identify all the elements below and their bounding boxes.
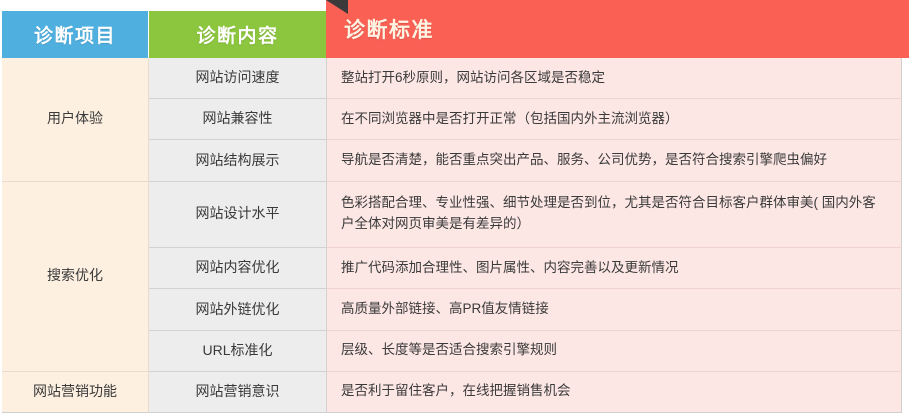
- header-cell-project: 诊断项目: [2, 11, 148, 58]
- category-cell: 网站营销功能: [2, 371, 149, 412]
- category-cell: 用户体验: [2, 58, 149, 181]
- item-cell: 网站结构展示: [149, 140, 327, 181]
- table-body: 用户体验网站访问速度整站打开6秒原则，网站访问各区域是否稳定网站兼容性在不同浏览…: [2, 58, 902, 413]
- table-row: 网站营销功能网站营销意识是否利于留住客户，在线把握销售机会: [2, 371, 902, 412]
- diagnosis-table: 用户体验网站访问速度整站打开6秒原则，网站访问各区域是否稳定网站兼容性在不同浏览…: [2, 58, 902, 413]
- item-cell: 网站访问速度: [149, 58, 327, 99]
- criteria-cell: 导航是否清楚，能否重点突出产品、服务、公司优势，是否符合搜索引擎爬虫偏好: [327, 140, 902, 181]
- criteria-cell: 是否利于留住客户，在线把握销售机会: [327, 371, 902, 412]
- item-cell: 网站外链优化: [149, 289, 327, 330]
- item-cell: 网站内容优化: [149, 248, 327, 289]
- criteria-cell: 在不同浏览器中是否打开正常（包括国内外主流浏览器）: [327, 99, 902, 140]
- item-cell: 网站设计水平: [149, 181, 327, 248]
- ribbon-fold-corner: [326, 0, 348, 14]
- table-row: 用户体验网站访问速度整站打开6秒原则，网站访问各区域是否稳定: [2, 58, 902, 99]
- table-row: 搜索优化网站设计水平色彩搭配合理、专业性强、细节处理是否到位，尤其是否符合目标客…: [2, 181, 902, 248]
- header-cell-standard: 诊断标准: [326, 0, 909, 58]
- table-header-row: 诊断项目 诊断内容 诊断标准: [0, 0, 909, 58]
- criteria-cell: 层级、长度等是否适合搜索引擎规则: [327, 330, 902, 371]
- diagnosis-table-page: 诊断项目 诊断内容 诊断标准 用户体验网站访问速度整站打开6秒原则，网站访问各区…: [0, 0, 909, 418]
- criteria-cell: 色彩搭配合理、专业性强、细节处理是否到位，尤其是否符合目标客户群体审美( 国内外…: [327, 181, 902, 248]
- category-cell: 搜索优化: [2, 181, 149, 371]
- criteria-cell: 高质量外部链接、高PR值友情链接: [327, 289, 902, 330]
- item-cell: 网站营销意识: [149, 371, 327, 412]
- item-cell: URL标准化: [149, 330, 327, 371]
- header-cell-content: 诊断内容: [149, 11, 326, 58]
- criteria-cell: 整站打开6秒原则，网站访问各区域是否稳定: [327, 58, 902, 99]
- criteria-cell: 推广代码添加合理性、图片属性、内容完善以及更新情况: [327, 248, 902, 289]
- item-cell: 网站兼容性: [149, 99, 327, 140]
